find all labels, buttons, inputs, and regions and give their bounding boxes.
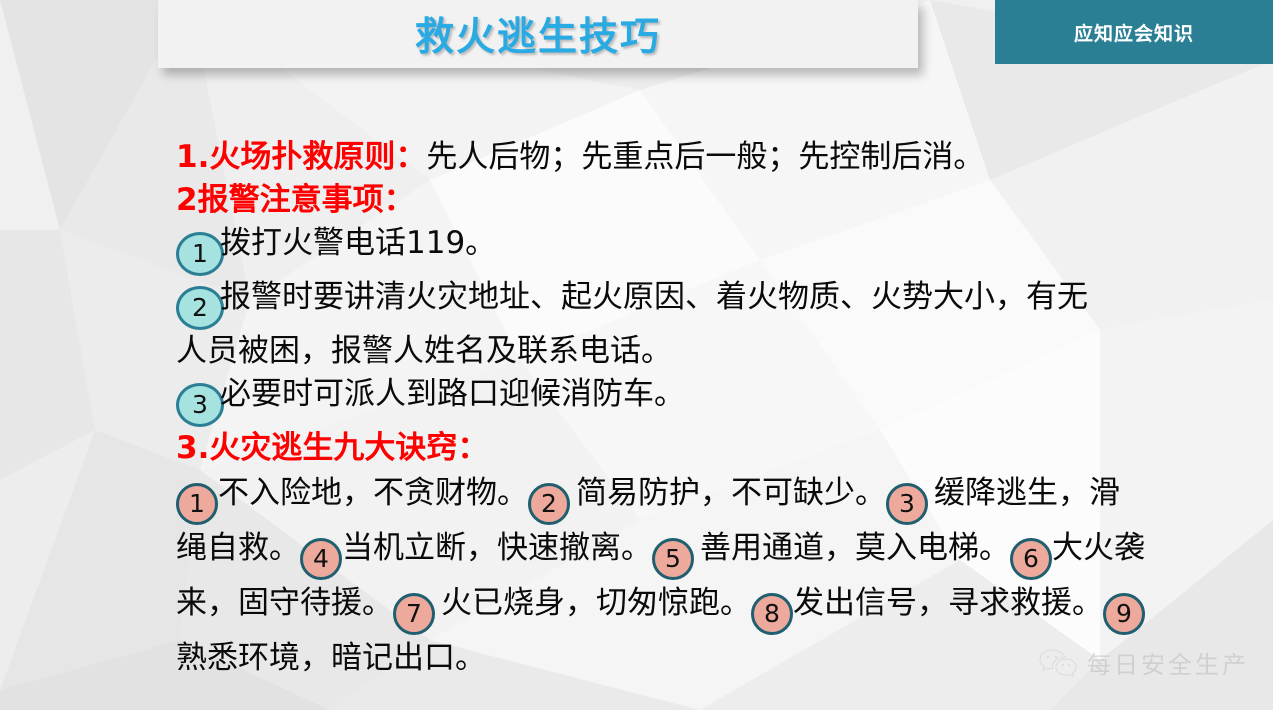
tip-circle-9: 9 (1103, 593, 1145, 635)
section-3-heading-line: 3.火灾逃生九大诀窍： (176, 427, 1236, 470)
watermark-text: 每日安全生产 (1087, 645, 1249, 680)
section-2-item-2-text-b: 人员被困，报警人姓名及联系电话。 (176, 333, 672, 369)
section-2-item-2-cont: 人员被困，报警人姓名及联系电话。 (176, 330, 1236, 373)
tip-text-3a: 缓降逃生，滑 (934, 475, 1120, 511)
slide-canvas: 救火逃生技巧 应知应会知识 1.火场扑救原则：先人后物；先重点后一般；先控制后消… (0, 0, 1273, 710)
tip-circle-4: 4 (300, 538, 342, 580)
tip-text-4: 当机立断，快速撤离。 (342, 530, 652, 566)
section-2-item-1: 1拨打火警电话119。 (176, 222, 1236, 276)
section-3-heading: 3.火灾逃生九大诀窍： (176, 430, 488, 466)
page-title: 救火逃生技巧 (158, 0, 918, 68)
slide-body: 1.火场扑救原则：先人后物；先重点后一般；先控制后消。 2报警注意事项： 1拨打… (176, 136, 1236, 681)
tip-text-6a: 大火袭 (1052, 530, 1145, 566)
circled-number-3: 3 (176, 383, 224, 427)
section-2-heading: 2报警注意事项： (176, 182, 415, 218)
section-1-body: 先人后物；先重点后一般；先控制后消。 (426, 139, 984, 175)
section-1-line: 1.火场扑救原则：先人后物；先重点后一般；先控制后消。 (176, 136, 1236, 179)
section-3-line-1: 1不入险地，不贪财物。2简易防护，不可缺少。3缓降逃生，滑 (176, 475, 1120, 511)
section-2-item-2: 2报警时要讲清火灾地址、起火原因、着火物质、火势大小，有无 (176, 276, 1236, 330)
tip-circle-1: 1 (176, 483, 218, 525)
tip-circle-6: 6 (1010, 538, 1052, 580)
tip-text-5: 善用通道，莫入电梯。 (700, 530, 1010, 566)
slide-title-box: 救火逃生技巧 (158, 0, 918, 68)
tip-circle-5: 5 (652, 538, 694, 580)
tip-text-2: 简易防护，不可缺少。 (576, 475, 886, 511)
section-2-item-1-text: 拨打火警电话119。 (220, 225, 496, 261)
circled-number-1: 1 (176, 232, 224, 276)
tip-text-3b: 绳自救。 (176, 530, 300, 566)
section-2-item-2-text-a: 报警时要讲清火灾地址、起火原因、着火物质、火势大小，有无 (220, 279, 1088, 315)
section-2-heading-line: 2报警注意事项： (176, 179, 1236, 222)
tip-circle-8: 8 (751, 593, 793, 635)
tip-circle-3: 3 (886, 483, 928, 525)
circled-number-2: 2 (176, 286, 224, 330)
tip-text-9: 熟悉环境，暗记出口。 (176, 640, 486, 676)
watermark: 每日安全生产 (1039, 645, 1249, 680)
wechat-icon (1039, 648, 1079, 678)
section-1-heading: 1.火场扑救原则： (176, 139, 426, 175)
section-3-line-2: 绳自救。4当机立断，快速撤离。5善用通道，莫入电梯。6大火袭 (176, 530, 1145, 566)
tip-text-1: 不入险地，不贪财物。 (218, 475, 528, 511)
section-3-line-3: 来，固守待援。7火已烧身，切匆惊跑。8发出信号，寻求救援。9 (176, 585, 1145, 621)
section-2-item-3: 3必要时可派人到路口迎候消防车。 (176, 373, 1236, 427)
section-3-line-4: 熟悉环境，暗记出口。 (176, 640, 486, 676)
tip-text-7: 火已烧身，切匆惊跑。 (441, 585, 751, 621)
corner-badge: 应知应会知识 (995, 0, 1273, 64)
tip-circle-2: 2 (528, 483, 570, 525)
section-2-item-3-text: 必要时可派人到路口迎候消防车。 (220, 376, 685, 412)
tip-text-6b: 来，固守待援。 (176, 585, 393, 621)
tip-text-8: 发出信号，寻求救援。 (793, 585, 1103, 621)
tip-circle-7: 7 (393, 593, 435, 635)
corner-badge-label: 应知应会知识 (1074, 19, 1194, 46)
